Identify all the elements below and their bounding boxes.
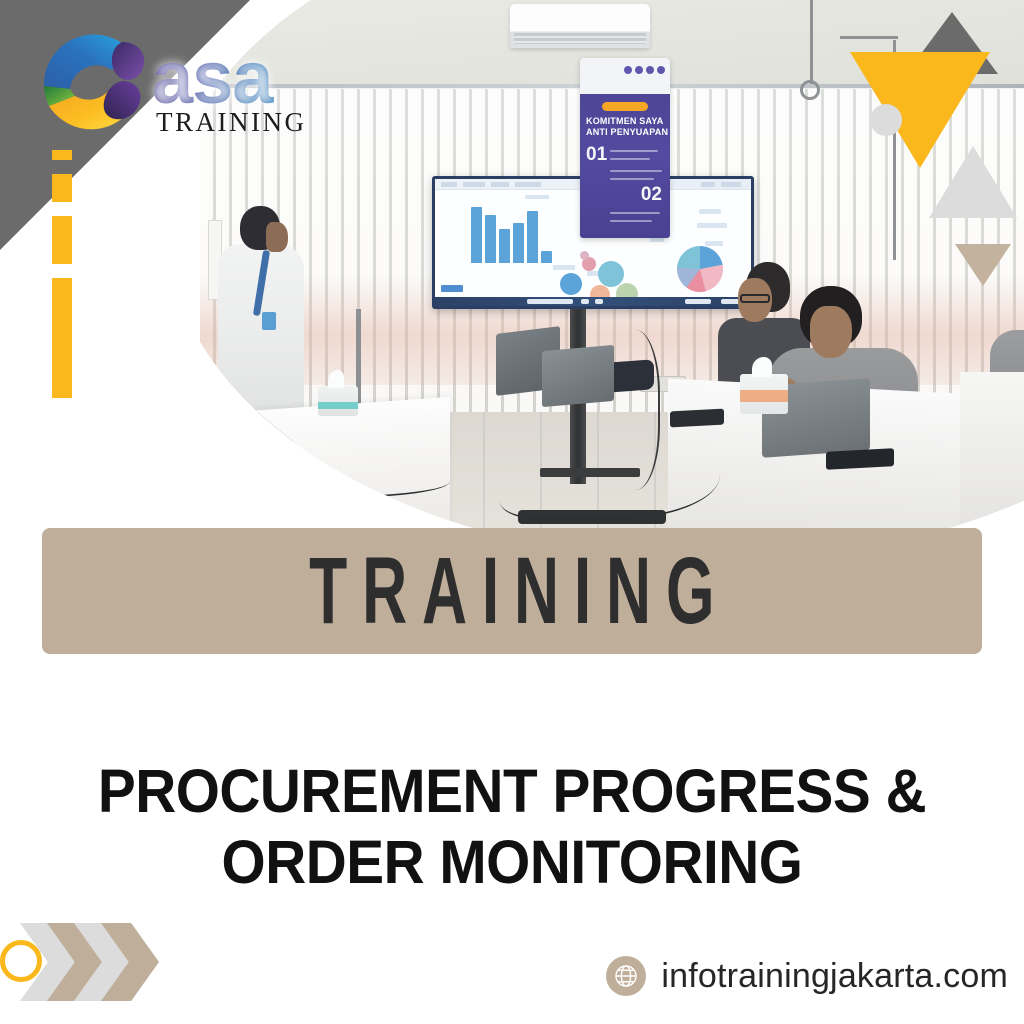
- screen-taskbar: [435, 297, 751, 306]
- dash-segment: [52, 216, 72, 264]
- standee-number-01: 01: [586, 144, 607, 166]
- title-line-1: PROCUREMENT PROGRESS &: [98, 757, 926, 825]
- standee-line2: ANTI PENYUAPAN: [586, 127, 668, 137]
- tissue-box-2: [740, 374, 788, 414]
- logo-wordmark: asa TRAINING: [152, 48, 306, 138]
- training-banner-label: TRAINING: [295, 537, 730, 646]
- participant-1-glasses-icon: [740, 294, 770, 303]
- screen-label-1: [525, 195, 549, 199]
- dash-segment: [52, 150, 72, 160]
- screen-status: [441, 285, 463, 292]
- chevron-arrows: [20, 923, 210, 1001]
- screen-label-5: [699, 209, 721, 214]
- standee-number-02: 02: [641, 184, 662, 206]
- website-url[interactable]: infotrainingjakarta.com: [661, 957, 1008, 996]
- participant-2-face: [810, 306, 852, 358]
- yellow-circle-outline-icon: [0, 940, 42, 982]
- ac-vent: [514, 33, 646, 44]
- yellow-dashed-line: [52, 150, 72, 412]
- dash-segment: [52, 174, 72, 202]
- page-title: PROCUREMENT PROGRESS & ORDER MONITORING: [92, 756, 933, 898]
- website-footer[interactable]: infotrainingjakarta.com: [606, 956, 1008, 996]
- standee-header: [580, 58, 670, 94]
- standee-line1: KOMITMEN SAYA: [586, 116, 663, 126]
- screen-pie-chart: [677, 246, 723, 292]
- screen-bar-chart: [471, 205, 552, 263]
- presenter-watch: [222, 398, 240, 410]
- hanging-ring: [800, 80, 820, 100]
- training-banner: TRAINING: [42, 528, 982, 654]
- screen-label-6: [697, 223, 727, 228]
- presenter-badge: [262, 312, 276, 330]
- phone-1: [670, 409, 724, 428]
- screen-label-7: [705, 241, 723, 246]
- hanging-rod-c: [840, 36, 898, 39]
- cable-3: [500, 430, 720, 520]
- standee-pill: [602, 102, 648, 111]
- dash-segment: [52, 278, 72, 398]
- gray-circle-icon: [870, 104, 902, 136]
- screen-label-3: [553, 265, 575, 270]
- anti-bribery-standee: KOMITMEN SAYA ANTI PENYUAPAN 01 02: [580, 58, 670, 238]
- brand-logo: asa TRAINING: [30, 18, 330, 158]
- hanging-rod-a: [810, 0, 813, 84]
- asa-circular-logo-icon: [30, 18, 158, 146]
- far-right-table: [960, 372, 1024, 540]
- globe-icon: [606, 956, 646, 996]
- laptop-4: [200, 423, 274, 502]
- logo-name: asa: [152, 48, 306, 109]
- presenter-face: [266, 222, 288, 252]
- logo-subtitle: TRAINING: [156, 107, 306, 138]
- poster-canvas: KOMITMEN SAYA ANTI PENYUAPAN 01 02: [0, 0, 1024, 1024]
- phone-2: [826, 448, 894, 470]
- tissue-box-1: [318, 386, 358, 416]
- standee-dots: [624, 66, 665, 74]
- air-conditioner-icon: [510, 4, 650, 48]
- front-table: [200, 397, 450, 540]
- title-line-2: ORDER MONITORING: [92, 827, 933, 898]
